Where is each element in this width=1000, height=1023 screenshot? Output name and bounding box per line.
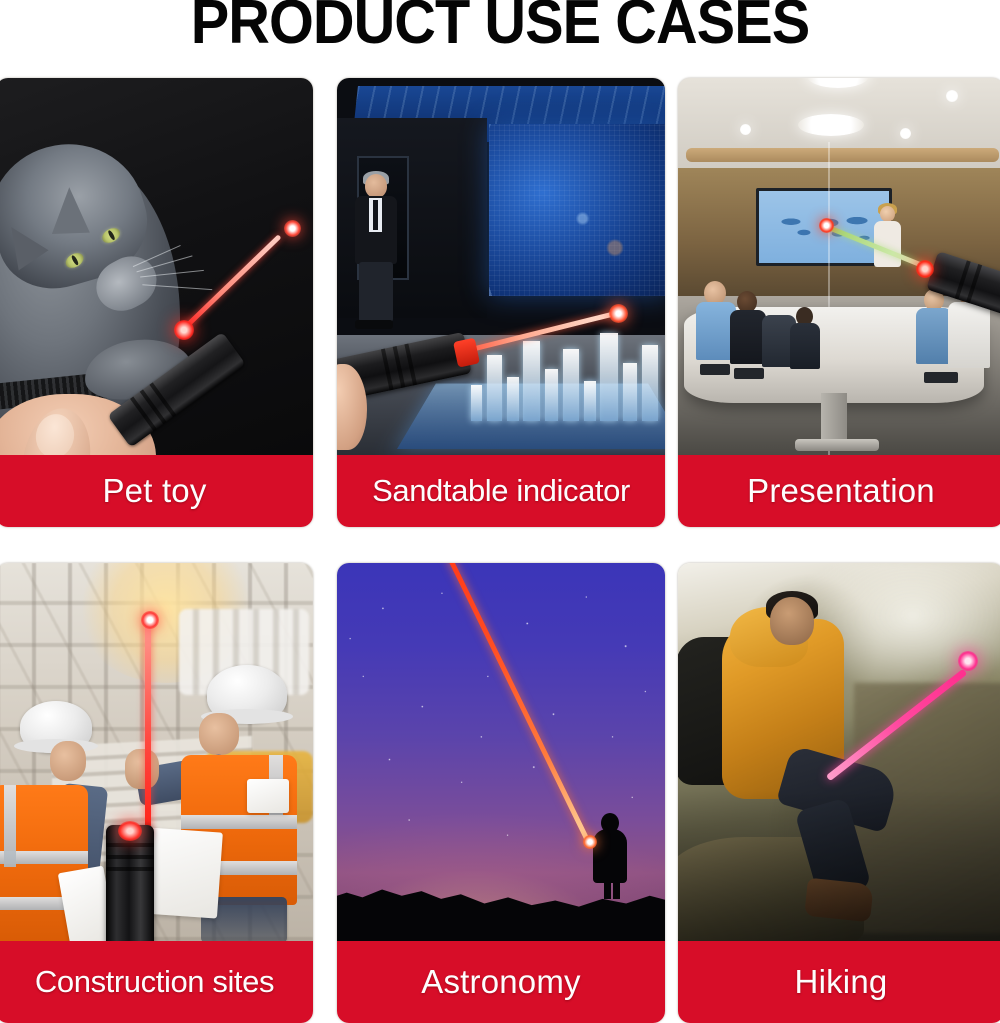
card-label-bar: Construction sites — [0, 941, 313, 1023]
card-label-bar: Hiking — [678, 941, 1000, 1023]
laser-dot — [284, 220, 301, 237]
laser-beam — [145, 622, 151, 838]
card-label-text: Pet toy — [102, 472, 206, 510]
card-label-text: Construction sites — [35, 964, 274, 1000]
use-case-grid: Pet toy — [0, 0, 1000, 1000]
pet-toy-photo — [0, 78, 313, 455]
laser-dot — [141, 611, 159, 629]
construction-photo — [0, 563, 313, 941]
laser-dot — [609, 304, 628, 323]
use-case-card-hiking[interactable]: Hiking — [678, 563, 1000, 1023]
card-label-text: Astronomy — [421, 963, 581, 1001]
use-case-card-astronomy[interactable]: Astronomy — [337, 563, 665, 1023]
hiking-photo — [678, 563, 1000, 941]
card-label-bar: Presentation — [678, 455, 1000, 527]
use-case-card-sandtable-indicator[interactable]: Sandtable indicator — [337, 78, 665, 527]
astronomy-photo — [337, 563, 665, 941]
laser-beam — [180, 234, 281, 332]
laser-dot — [583, 835, 597, 849]
use-case-card-pet-toy[interactable]: Pet toy — [0, 78, 313, 527]
card-label-text: Presentation — [747, 472, 935, 510]
card-label-bar: Pet toy — [0, 455, 313, 527]
laser-dot — [958, 651, 978, 671]
card-label-bar: Sandtable indicator — [337, 455, 665, 527]
card-label-text: Hiking — [795, 963, 888, 1001]
laser-dot — [819, 218, 834, 233]
sandtable-photo — [337, 78, 665, 455]
use-case-card-presentation[interactable]: Presentation — [678, 78, 1000, 527]
presentation-photo — [678, 78, 1000, 455]
card-label-text: Sandtable indicator — [372, 473, 630, 509]
use-case-card-construction-sites[interactable]: Construction sites — [0, 563, 313, 1023]
card-label-bar: Astronomy — [337, 941, 665, 1023]
